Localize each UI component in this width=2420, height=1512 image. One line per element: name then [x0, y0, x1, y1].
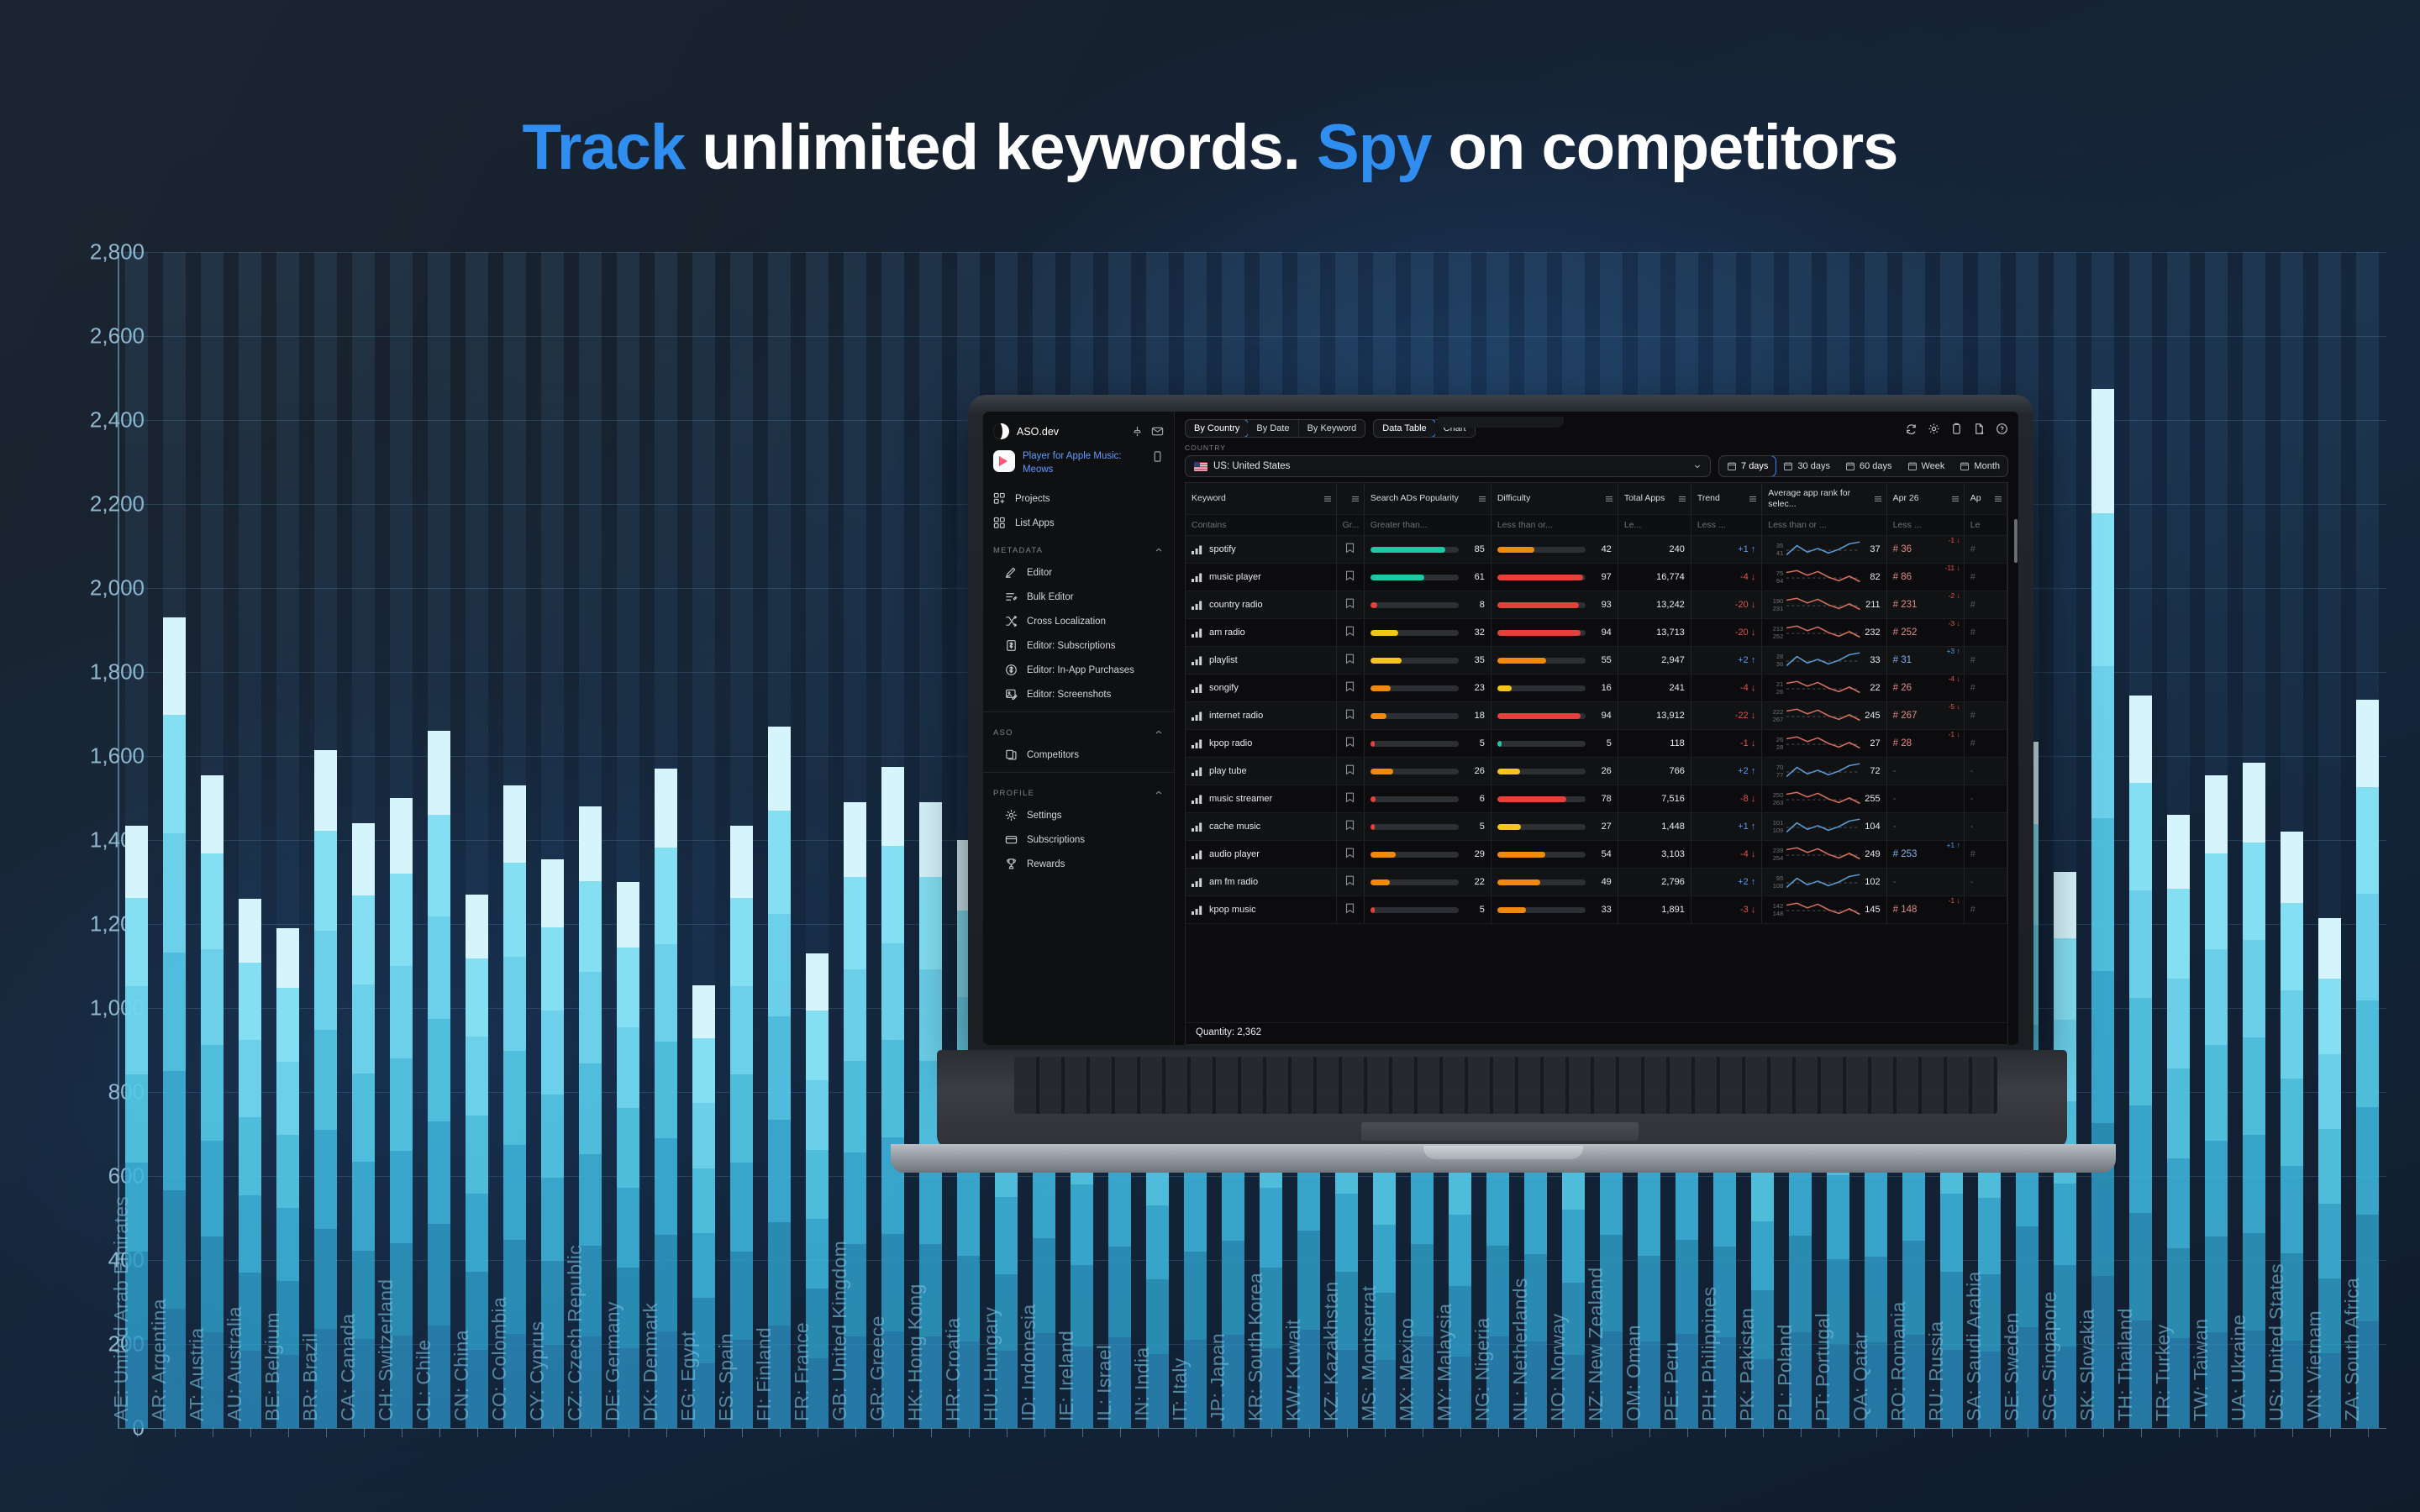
column-header-search-ads-popularity[interactable]: Search ADs Popularity [1364, 483, 1491, 515]
sparkline [1786, 790, 1860, 808]
bookmark-icon[interactable] [1345, 626, 1355, 637]
bar-segment [2356, 1000, 2380, 1107]
meter-value: 18 [1465, 711, 1485, 721]
cell-bookmark[interactable] [1336, 702, 1364, 730]
meter-fill [1497, 713, 1581, 719]
column-header-keyword[interactable]: Keyword [1186, 483, 1336, 515]
cell-total-apps: 2,796 [1618, 869, 1691, 896]
x-axis-category-label: KZ: Kazakhstan [1320, 1281, 1343, 1421]
bar-segment [2243, 843, 2266, 940]
meter-track [1370, 685, 1459, 691]
bookmark-icon[interactable] [1345, 764, 1355, 775]
cell-difficulty: 5 [1491, 730, 1618, 758]
x-axis-category-label: KW: Kuwait [1282, 1320, 1305, 1421]
sidebar-group-aso[interactable]: ASO [983, 717, 1174, 743]
sidebar-group-profile[interactable]: PROFILE [983, 778, 1174, 803]
meter-track [1497, 630, 1586, 636]
column-menu-icon[interactable] [1478, 495, 1486, 503]
meter-track [1497, 575, 1586, 580]
rank-delta: -1 ↓ [1949, 536, 1960, 544]
x-axis-category-label: CN: China [450, 1330, 473, 1421]
table-row[interactable]: kpop radio55118-1 ↓262827# 28-1 ↓# [1186, 730, 2007, 758]
cell-difficulty: 93 [1491, 591, 1618, 619]
bar-segment [163, 833, 187, 953]
table-row[interactable]: play tube2626766+2 ↑707772-- [1186, 758, 2007, 785]
cell-difficulty: 54 [1491, 841, 1618, 869]
bar-segment [579, 1063, 602, 1155]
keyword-bars-icon [1192, 628, 1202, 638]
meter-track [1370, 824, 1459, 830]
tab-data-table[interactable]: Data Table [1373, 419, 1435, 438]
meter-track [1370, 658, 1459, 664]
meter-track [1370, 852, 1459, 858]
meter-fill [1370, 575, 1424, 580]
bar-segment [730, 898, 754, 986]
cell-rank-apr26: # 253+1 ↑ [1886, 841, 1964, 869]
cell-bookmark[interactable] [1336, 536, 1364, 564]
meter-cell: 61 [1370, 572, 1485, 582]
sparkline-value: 104 [1864, 822, 1881, 832]
filter-bar: COUNTRY US: United States 7 days30 days6… [1175, 442, 2018, 482]
bar-slot: AT: Austria [193, 252, 231, 1428]
bar-segment [2129, 890, 2153, 998]
bookmark-icon[interactable] [1345, 681, 1355, 692]
sidebar-item-label: Editor: In-App Purchases [1027, 665, 1134, 675]
bookmark-icon[interactable] [1345, 737, 1355, 748]
cell-keyword: play tube [1186, 758, 1336, 785]
bar-segment [2281, 903, 2304, 990]
cell-bookmark[interactable] [1336, 675, 1364, 702]
x-axis-category-label: HK: Hong Kong [904, 1284, 927, 1421]
column-menu-icon[interactable] [1951, 495, 1960, 503]
x-axis-tick [2179, 1428, 2180, 1437]
table-row[interactable]: internet radio189413,912-22 ↓222267245# … [1186, 702, 2007, 730]
table-row[interactable]: audio player29543,103-4 ↓239254249# 253+… [1186, 841, 2007, 869]
cell-total-apps: 241 [1618, 675, 1691, 702]
meter-value: 54 [1591, 849, 1612, 859]
image-edit-icon [1005, 688, 1018, 701]
meter-value: 33 [1591, 905, 1612, 915]
sidebar-item-editor[interactable]: Editor [983, 560, 1174, 585]
column-header-trend[interactable]: Trend [1691, 483, 1761, 515]
calendar-icon [1727, 461, 1737, 471]
projects-icon [993, 492, 1006, 505]
filter-input-7[interactable]: Less ... [1886, 515, 1964, 536]
bar-slot: TW: Taiwan [2197, 252, 2235, 1428]
sparkline-value: 232 [1864, 627, 1881, 638]
x-axis-tick [1196, 1428, 1197, 1437]
cell-search-ads-popularity: 6 [1364, 785, 1491, 813]
filter-input-1[interactable]: Gr... [1336, 515, 1364, 536]
table-filter-row[interactable]: ContainsGr...Greater than...Less than or… [1186, 515, 2007, 536]
filter-input-0[interactable]: Contains [1186, 515, 1336, 536]
column-menu-icon[interactable] [1678, 495, 1686, 503]
x-axis-category-label: UA: Ukraine [2228, 1315, 2250, 1421]
help-icon[interactable] [1996, 423, 2008, 435]
bar-segment [276, 988, 300, 1061]
filter-input-6[interactable]: Less than or ... [1762, 515, 1886, 536]
filter-input-5[interactable]: Less ... [1691, 515, 1761, 536]
column-menu-icon[interactable] [1994, 495, 2002, 503]
meter-track [1497, 713, 1586, 719]
cell-bookmark[interactable] [1336, 591, 1364, 619]
meter-value: 5 [1465, 738, 1485, 748]
sidebar-item-subscriptions[interactable]: Subscriptions [983, 827, 1174, 852]
table-row[interactable]: songify2316241-4 ↓212622# 26-4 ↓# [1186, 675, 2007, 702]
meter-value: 6 [1465, 794, 1485, 804]
gear-icon[interactable] [1928, 423, 1940, 435]
meter-value: 49 [1591, 877, 1612, 887]
table-row[interactable]: cache music5271,448+1 ↑101109104-- [1186, 813, 2007, 841]
bookmark-icon[interactable] [1345, 709, 1355, 720]
phone-icon[interactable] [1151, 450, 1164, 463]
bookmark-icon[interactable] [1345, 654, 1355, 664]
meter-track [1370, 602, 1459, 608]
quantity-label: Quantity: 2,362 [1186, 1022, 2007, 1044]
filter-input-3[interactable]: Less than or... [1491, 515, 1618, 536]
sidebar-item-settings[interactable]: Settings [983, 803, 1174, 827]
sidebar-item-projects[interactable]: Projects [983, 486, 1174, 511]
x-axis-tick [553, 1428, 554, 1437]
x-axis-tick [1649, 1428, 1650, 1437]
cell-average-rank: 212622 [1762, 675, 1886, 702]
bar-segment [428, 1224, 451, 1326]
bar-segment [314, 831, 338, 930]
bar-segment [2356, 787, 2380, 894]
meter-cell: 85 [1370, 544, 1485, 554]
bar-segment [163, 953, 187, 1072]
cell-keyword: audio player [1186, 841, 1336, 869]
mail-icon[interactable] [1151, 425, 1164, 438]
bar-segment [201, 1236, 224, 1332]
meter-cell: 27 [1497, 822, 1612, 832]
bar-segment [2167, 979, 2191, 1068]
x-axis-tick [1347, 1428, 1348, 1437]
bar-segment-top [541, 859, 565, 927]
bar-segment [692, 1103, 716, 1168]
calendar-icon [1907, 461, 1918, 471]
sparkline-value: 72 [1864, 766, 1881, 776]
cell-search-ads-popularity: 5 [1364, 730, 1491, 758]
table-row[interactable]: kpop music5331,891-3 ↓142148145# 148-1 ↓… [1186, 896, 2007, 924]
cell-total-apps: 766 [1618, 758, 1691, 785]
export-icon[interactable] [1973, 423, 1986, 435]
sidebar-item-list-apps[interactable]: List Apps [983, 511, 1174, 535]
meter-value: 55 [1591, 655, 1612, 665]
cell-bookmark[interactable] [1336, 647, 1364, 675]
cell-bookmark[interactable] [1336, 813, 1364, 841]
sparkline [1786, 596, 1860, 614]
sidebar-group-metadata[interactable]: METADATA [983, 535, 1174, 560]
cell-total-apps: 240 [1618, 536, 1691, 564]
x-axis-tick [1876, 1428, 1877, 1437]
rank-delta: -5 ↓ [1949, 702, 1960, 711]
cell-difficulty: 16 [1491, 675, 1618, 702]
cell-total-apps: 1,891 [1618, 896, 1691, 924]
bar-segment [352, 984, 376, 1074]
table-body: ContainsGr...Greater than...Less than or… [1186, 515, 2007, 924]
keyword-text: play tube [1209, 766, 1247, 776]
bookmark-icon[interactable] [1345, 543, 1355, 554]
range-7-days[interactable]: 7 days [1718, 455, 1776, 477]
range-60-days[interactable]: 60 days [1838, 456, 1900, 476]
cell-bookmark[interactable] [1336, 564, 1364, 591]
shuffle-icon [1005, 615, 1018, 627]
cell-search-ads-popularity: 32 [1364, 619, 1491, 647]
column-menu-icon[interactable] [1605, 495, 1613, 503]
bar-segment [844, 877, 867, 969]
sparkline-value: 145 [1864, 905, 1881, 915]
cell-keyword: spotify [1186, 536, 1336, 564]
column-header-apr-26[interactable]: Apr 26 [1886, 483, 1964, 515]
bar-segment-top [2318, 918, 2342, 979]
bar [768, 727, 792, 1428]
x-axis-category-label: PT: Portugal [1812, 1313, 1834, 1421]
x-axis-category-label: VN: Vietnam [2303, 1310, 2326, 1421]
cell-rank-next: - [1964, 869, 2007, 896]
meter-cell: 93 [1497, 600, 1612, 610]
column-header-total-apps[interactable]: Total Apps [1618, 483, 1691, 515]
table-row[interactable]: music player619716,774-4 ↓759482# 86-11 … [1186, 564, 2007, 591]
bar-segment [2091, 513, 2115, 666]
filter-input-4[interactable]: Le... [1618, 515, 1691, 536]
rank-value: - [1893, 877, 1897, 887]
sparkline-range: 3541 [1768, 542, 1783, 558]
range-month[interactable]: Month [1952, 456, 2007, 476]
cell-trend: -4 ↓ [1691, 564, 1761, 591]
x-axis-category-label: CY: Cyprus [526, 1321, 549, 1421]
vertical-scrollbar[interactable] [2014, 519, 2018, 563]
table-row[interactable]: am radio329413,713-20 ↓213252232# 252-3 … [1186, 619, 2007, 647]
bar-segment [276, 1062, 300, 1135]
refresh-icon[interactable] [1905, 423, 1918, 435]
keyword-bars-icon [1192, 545, 1202, 554]
meter-fill [1497, 769, 1520, 774]
cell-difficulty: 49 [1491, 869, 1618, 896]
column-header-label: Search ADs Popularity [1370, 493, 1459, 503]
cell-average-rank: 95108102 [1762, 869, 1886, 896]
bar-segment [2167, 1068, 2191, 1158]
cell-rank-next: - [1964, 813, 2007, 841]
laptop-base [891, 1050, 2116, 1176]
x-axis-tick [1423, 1428, 1423, 1437]
x-axis-category-label: NZ: New Zealand [1585, 1268, 1607, 1421]
sparkline [1786, 817, 1860, 836]
x-axis-tick [137, 1428, 138, 1437]
bar-segment-top [390, 798, 413, 874]
table-row[interactable]: country radio89313,242-20 ↓190231211# 23… [1186, 591, 2007, 619]
bar-segment [692, 1168, 716, 1233]
table-head: KeywordSearch ADs PopularityDifficultyTo… [1186, 483, 2007, 515]
bar-segment [390, 1151, 413, 1243]
bar-segment [617, 1027, 640, 1107]
sparkline-value: 37 [1864, 544, 1881, 554]
range-week[interactable]: Week [1900, 456, 1953, 476]
sparkline [1786, 540, 1860, 559]
bar-segment-top [466, 895, 489, 958]
filter-input-8[interactable]: Le [1964, 515, 2007, 536]
table-row[interactable]: spotify8542240+1 ↑354137# 36-1 ↓# [1186, 536, 2007, 564]
keyword-text: audio player [1209, 849, 1260, 859]
clipboard-icon[interactable] [1950, 423, 1963, 435]
bar-segment [201, 949, 224, 1045]
cell-average-rank: 262827 [1762, 730, 1886, 758]
bookmark-icon[interactable] [1345, 598, 1355, 609]
bar-segment [239, 963, 262, 1040]
cell-bookmark[interactable] [1336, 785, 1364, 813]
bar-segment-top [768, 727, 792, 811]
rank-delta: -1 ↓ [1949, 896, 1960, 905]
cell-average-rank: 239254249 [1762, 841, 1886, 869]
calendar-icon [1845, 461, 1855, 471]
bar-segment [2205, 1045, 2228, 1141]
column-menu-icon[interactable] [1323, 495, 1332, 503]
bookmark-icon[interactable] [1345, 875, 1355, 886]
cell-bookmark[interactable] [1336, 896, 1364, 924]
x-axis-tick [364, 1428, 365, 1437]
rank-value: # 231 [1893, 600, 1918, 610]
sparkline-value: 22 [1864, 683, 1881, 693]
sidebar-item-competitors[interactable]: Competitors [983, 743, 1174, 767]
sidebar-item-cross-localization[interactable]: Cross Localization [983, 609, 1174, 633]
date-range-group: 7 days30 days60 daysWeekMonth [1718, 455, 2008, 477]
sidebar-item-editor-in-app-purchases[interactable]: Editor: In-App Purchases [983, 658, 1174, 682]
bookmark-icon[interactable] [1345, 903, 1355, 914]
cell-rank-next: - [1964, 758, 2007, 785]
tab-by-country[interactable]: By Country [1185, 419, 1249, 438]
meter-value: 8 [1465, 600, 1485, 610]
bar-segment [579, 1154, 602, 1246]
cell-trend: -20 ↓ [1691, 591, 1761, 619]
bookmark-icon[interactable] [1345, 820, 1355, 831]
cell-keyword: am fm radio [1186, 869, 1336, 896]
cell-total-apps: 16,774 [1618, 564, 1691, 591]
table-row[interactable]: playlist35552,947+2 ↑283633# 31+3 ↑# [1186, 647, 2007, 675]
cell-keyword: country radio [1186, 591, 1336, 619]
bar-segment [541, 1011, 565, 1094]
sidebar-item-editor-screenshots[interactable]: Editor: Screenshots [983, 682, 1174, 706]
bar-segment [655, 944, 678, 1041]
tab-by-keyword[interactable]: By Keyword [1299, 420, 1365, 437]
bookmark-icon[interactable] [1345, 792, 1355, 803]
x-axis-tick [402, 1428, 402, 1437]
cell-average-rank: 222267245 [1762, 702, 1886, 730]
cell-bookmark[interactable] [1336, 619, 1364, 647]
x-axis-category-label: CL: Chile [413, 1340, 435, 1421]
meter-value: 16 [1591, 683, 1612, 693]
meter-fill [1497, 741, 1502, 747]
bar-segment [503, 957, 527, 1051]
bar-slot: TR: Turkey [2160, 252, 2197, 1428]
x-axis-tick [326, 1428, 327, 1437]
sparkline-range: 190231 [1768, 597, 1783, 613]
x-axis-category-label: PL: Poland [1774, 1324, 1797, 1421]
x-axis-tick [1612, 1428, 1612, 1437]
tab-by-date[interactable]: By Date [1248, 420, 1298, 437]
cell-trend: -20 ↓ [1691, 619, 1761, 647]
meter-cell: 32 [1370, 627, 1485, 638]
meter-cell: 94 [1497, 711, 1612, 721]
sparkline [1786, 651, 1860, 669]
rank-value: # 253 [1893, 849, 1918, 859]
cell-bookmark[interactable] [1336, 841, 1364, 869]
meter-fill [1370, 602, 1377, 608]
meter-value: 22 [1465, 877, 1485, 887]
table-row[interactable]: am fm radio22492,796+2 ↑95108102-- [1186, 869, 2007, 896]
meter-track [1497, 796, 1586, 802]
column-header-ap[interactable]: Ap [1964, 483, 2007, 515]
meter-cell: 18 [1370, 711, 1485, 721]
cell-search-ads-popularity: 29 [1364, 841, 1491, 869]
x-axis-tick [2292, 1428, 2293, 1437]
bar-segment-top [2167, 815, 2191, 889]
cell-average-rank: 190231211 [1762, 591, 1886, 619]
sparkline-value: 27 [1864, 738, 1881, 748]
bar-segment [239, 1117, 262, 1194]
rank-delta: -11 ↓ [1944, 564, 1960, 572]
x-axis-category-label: SA: Saudi Arabia [1963, 1271, 1986, 1421]
bookmark-icon[interactable] [1345, 570, 1355, 581]
keyword-bars-icon [1192, 767, 1202, 776]
cell-search-ads-popularity: 5 [1364, 896, 1491, 924]
x-axis-tick [818, 1428, 818, 1437]
bar-segment [2167, 1158, 2191, 1248]
sparkline [1786, 762, 1860, 780]
cell-total-apps: 13,242 [1618, 591, 1691, 619]
column-menu-icon[interactable] [1874, 495, 1882, 503]
x-axis-category-label: SE: Sweden [2001, 1312, 2023, 1421]
meter-track [1370, 769, 1459, 774]
cell-bookmark[interactable] [1336, 730, 1364, 758]
column-header-label: Ap [1970, 493, 1981, 503]
column-menu-icon[interactable] [1351, 495, 1360, 503]
meter-fill [1370, 741, 1375, 747]
meter-value: 29 [1465, 849, 1485, 859]
meter-value: 78 [1591, 794, 1612, 804]
view-tab-group: By CountryBy DateBy Keyword [1185, 419, 1365, 438]
column-header-difficulty[interactable]: Difficulty [1491, 483, 1618, 515]
bookmark-icon[interactable] [1345, 848, 1355, 858]
column-header-average-app-rank-for-selec[interactable]: Average app rank for selec... [1762, 483, 1886, 515]
range-30-days[interactable]: 30 days [1776, 456, 1838, 476]
column-header-icon-1[interactable] [1336, 483, 1364, 515]
cell-bookmark[interactable] [1336, 758, 1364, 785]
table-scroll-area[interactable]: KeywordSearch ADs PopularityDifficultyTo… [1186, 483, 2007, 1022]
sidebar-item-bulk-editor[interactable]: Bulk Editor [983, 585, 1174, 609]
title-tail: on competitors [1431, 112, 1897, 183]
range-label: Month [1974, 461, 2000, 471]
pin-icon[interactable] [1131, 425, 1144, 438]
cell-total-apps: 13,912 [1618, 702, 1691, 730]
cell-bookmark[interactable] [1336, 869, 1364, 896]
column-menu-icon[interactable] [1749, 495, 1757, 503]
country-select[interactable]: US: United States [1185, 455, 1711, 477]
bar-segment [730, 1252, 754, 1340]
sidebar-item-editor-subscriptions[interactable]: Editor: Subscriptions [983, 633, 1174, 658]
cell-trend: -3 ↓ [1691, 896, 1761, 924]
sparkline-range: 222267 [1768, 708, 1783, 724]
current-app[interactable]: Player for Apple Music: Meows [983, 448, 1174, 486]
bar-slot: UA: Ukraine [2235, 252, 2273, 1428]
calendar-icon [1960, 461, 1970, 471]
table-row[interactable]: music streamer6787,516-8 ↓250263255-- [1186, 785, 2007, 813]
filter-input-2[interactable]: Greater than... [1364, 515, 1491, 536]
bar-segment [1146, 1279, 1170, 1353]
cell-average-rank: 101109104 [1762, 813, 1886, 841]
cell-rank-next: # [1964, 841, 2007, 869]
bar-segment [2356, 1107, 2380, 1214]
sidebar-item-rewards[interactable]: Rewards [983, 852, 1174, 876]
